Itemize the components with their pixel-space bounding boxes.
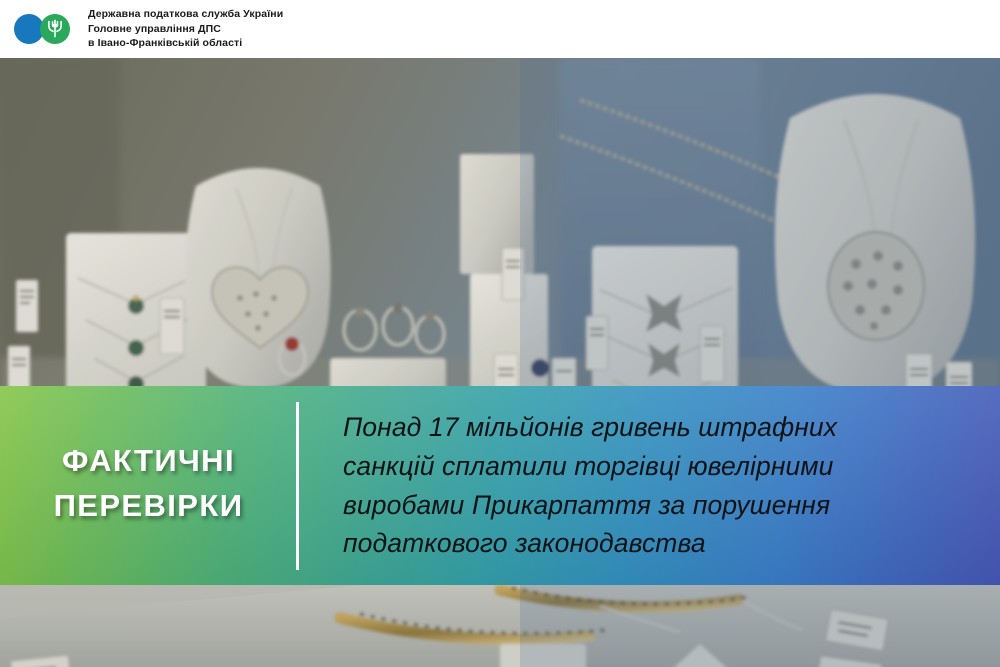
banner-headline-block: Понад 17 мільйонів гривень штрафних санк… — [297, 386, 1000, 585]
kicker-line-1: ФАКТИЧНІ — [62, 439, 235, 483]
site-header: Державна податкова служба України Головн… — [0, 0, 1000, 58]
org-line-1: Державна податкова служба України — [88, 7, 283, 21]
poster-root: Державна податкова служба України Головн… — [0, 0, 1000, 667]
banner-divider — [296, 402, 299, 570]
banner-kicker-block: ФАКТИЧНІ ПЕРЕВІРКИ — [0, 386, 297, 585]
org-line-2: Головне управління ДПС — [88, 22, 283, 36]
dps-logo — [14, 12, 76, 46]
organization-title: Державна податкова служба України Головн… — [88, 7, 283, 50]
kicker-line-2: ПЕРЕВІРКИ — [54, 484, 244, 528]
headline-banner: ФАКТИЧНІ ПЕРЕВІРКИ Понад 17 мільйонів гр… — [0, 386, 1000, 585]
headline-line-1: Понад 17 мільйонів гривень штрафних — [343, 408, 982, 447]
headline-line-2: санкцій сплатили торгівці ювелірними — [343, 447, 982, 486]
ukraine-trident-icon — [47, 19, 63, 39]
headline-line-3: виробами Прикарпаття за порушення — [343, 486, 982, 525]
org-line-3: в Івано-Франківській області — [88, 36, 283, 50]
headline-line-4: податкового законодавства — [343, 524, 982, 563]
